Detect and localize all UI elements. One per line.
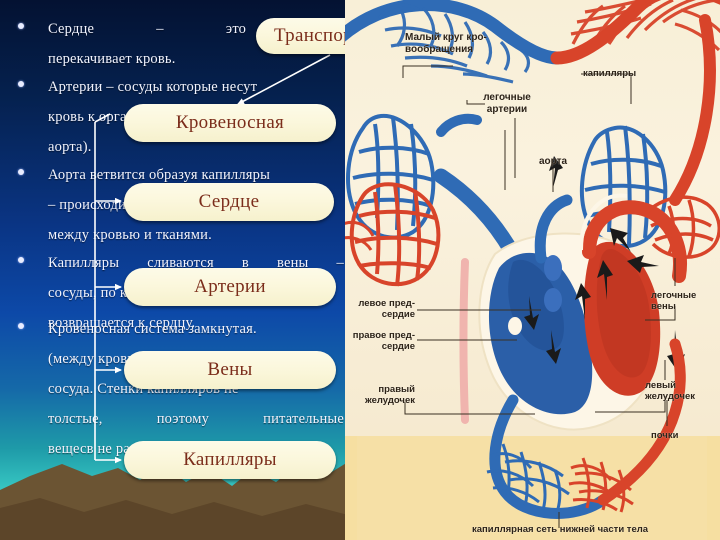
label-legochnye-veny: легочные вены [651,290,720,312]
label-levoe-predserdie: левое пред- сердие [345,298,415,320]
callout-kapillyary[interactable]: Капилляры [124,441,336,479]
callout-label: Артерии [194,276,266,298]
label-legochnye-arterii: легочные артерии [471,92,543,116]
callout-label: Кровеносная [176,112,284,134]
connector-branch-krovenosnaya [95,114,110,122]
label-praviy-zheludochek: правый желудочек [345,384,415,406]
callout-arterii[interactable]: Артерии [124,268,336,306]
label-maliy-krug: Малый круг кро- вообращения [405,32,515,56]
slide-canvas: Сердце – это насос перекачивает кровь. А… [0,0,720,540]
label-kapillyarnaya-set: капиллярная сеть нижней части тела [415,524,705,535]
label-kapillyary: капилляры [583,68,663,79]
label-pravoe-predserdie: правое пред- сердие [345,330,415,352]
callout-label: Вены [207,359,252,381]
label-leviy-zheludochek: левый желудочек [645,380,720,402]
diagram-vessels [345,0,720,540]
callout-serdce[interactable]: Сердце [124,183,334,221]
callout-label: Капилляры [183,449,277,471]
callout-label: Сердце [199,191,260,213]
callout-krovenosnaya[interactable]: Кровеносная [124,104,336,142]
connector-branch-transport [238,55,330,104]
circulation-diagram: Малый круг кро- вообращения капилляры ле… [345,0,720,540]
callout-veny[interactable]: Вены [124,351,336,389]
label-pochki: почки [651,430,711,441]
label-aorta: аорта [523,156,583,168]
